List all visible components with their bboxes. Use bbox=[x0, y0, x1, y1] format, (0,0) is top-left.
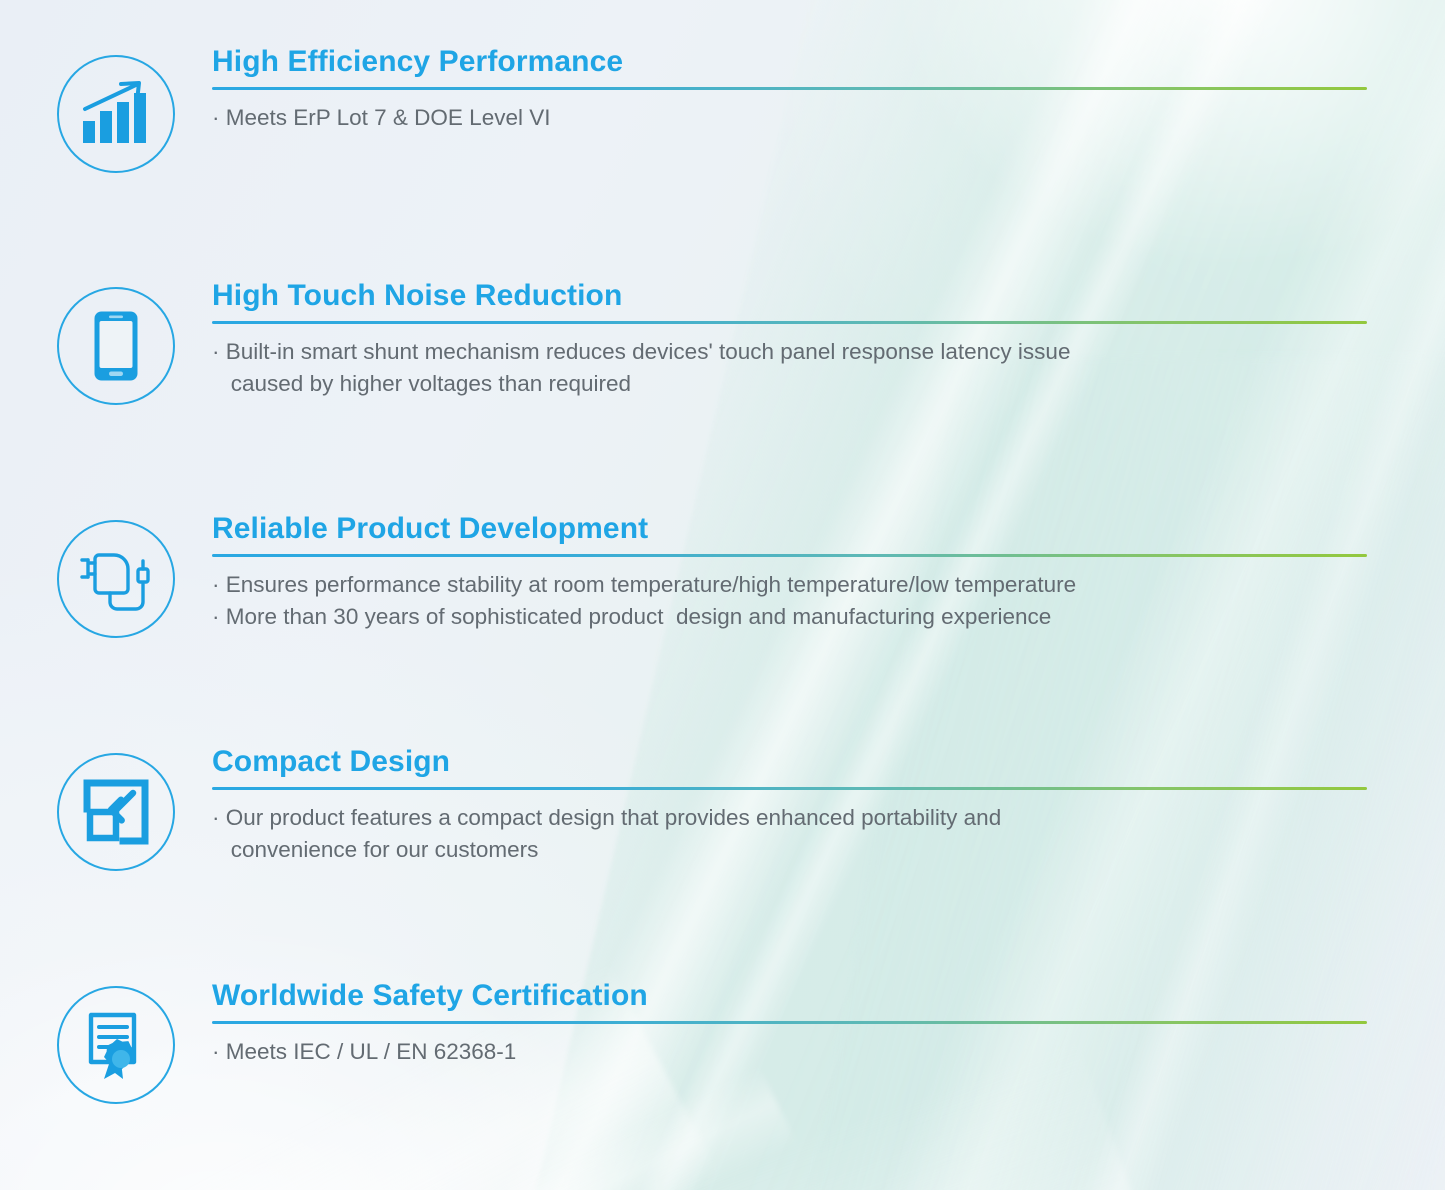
feature-bullet: · Built-in smart shunt mechanism reduces… bbox=[212, 336, 1367, 368]
feature-bullet: · Meets ErP Lot 7 & DOE Level VI bbox=[212, 102, 1367, 134]
feature-bullet: caused by higher voltages than required bbox=[212, 368, 1367, 400]
feature-description: · Meets IEC / UL / EN 62368-1 bbox=[212, 1036, 1367, 1068]
feature-title: Worldwide Safety Certification bbox=[212, 980, 1367, 1012]
compact-resize-icon bbox=[57, 753, 175, 871]
certificate-award-icon bbox=[57, 986, 175, 1104]
feature-bullet: · Meets IEC / UL / EN 62368-1 bbox=[212, 1036, 1367, 1068]
feature-body: Reliable Product Development · Ensures p… bbox=[212, 513, 1367, 634]
feature-body: Compact Design · Our product features a … bbox=[212, 746, 1367, 867]
feature-divider bbox=[212, 87, 1367, 90]
feature-title: High Efficiency Performance bbox=[212, 46, 1367, 78]
smartphone-icon bbox=[57, 287, 175, 405]
feature-divider bbox=[212, 787, 1367, 790]
feature-title: Compact Design bbox=[212, 746, 1367, 778]
bar-chart-growth-icon bbox=[57, 55, 175, 173]
feature-description: · Our product features a compact design … bbox=[212, 802, 1367, 867]
feature-description: · Meets ErP Lot 7 & DOE Level VI bbox=[212, 102, 1367, 134]
feature-title: High Touch Noise Reduction bbox=[212, 280, 1367, 312]
feature-body: Worldwide Safety Certification · Meets I… bbox=[212, 980, 1367, 1068]
feature-bullet: · More than 30 years of sophisticated pr… bbox=[212, 601, 1367, 633]
power-adapter-icon bbox=[57, 520, 175, 638]
feature-bullet: convenience for our customers bbox=[212, 834, 1367, 866]
feature-body: High Touch Noise Reduction · Built-in sm… bbox=[212, 280, 1367, 401]
feature-divider bbox=[212, 321, 1367, 324]
feature-divider bbox=[212, 554, 1367, 557]
feature-description: · Built-in smart shunt mechanism reduces… bbox=[212, 336, 1367, 401]
feature-title: Reliable Product Development bbox=[212, 513, 1367, 545]
feature-divider bbox=[212, 1021, 1367, 1024]
feature-bullet: · Our product features a compact design … bbox=[212, 802, 1367, 834]
feature-description: · Ensures performance stability at room … bbox=[212, 569, 1367, 634]
feature-bullet: · Ensures performance stability at room … bbox=[212, 569, 1367, 601]
feature-body: High Efficiency Performance · Meets ErP … bbox=[212, 46, 1367, 134]
